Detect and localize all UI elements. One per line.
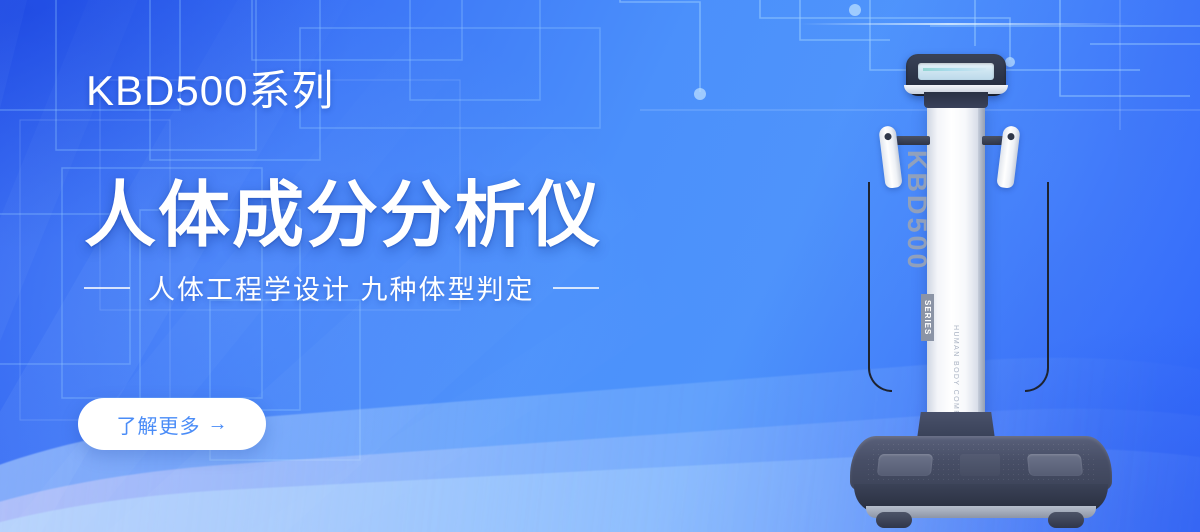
- arrow-right-icon: →: [208, 414, 228, 434]
- device-handle-arm-left: [896, 136, 930, 145]
- learn-more-button-label: 了解更多: [117, 410, 201, 439]
- device-screen: [918, 63, 994, 80]
- device-cable-right: [1025, 182, 1049, 392]
- hero-subtitle-text: 人体工程学设计 九种体型判定: [148, 268, 535, 307]
- device-column-edge: [978, 104, 985, 424]
- device-foot-electrode-right: [1027, 454, 1083, 476]
- device-series-badge: SERIES: [921, 294, 934, 341]
- device-brand-label: KBD500: [901, 150, 932, 300]
- device-foot-electrode-left: [877, 454, 933, 476]
- device-handle-right: [996, 125, 1020, 189]
- page-title: 人体成分分析仪: [84, 180, 602, 252]
- product-series-eyebrow: KBD500系列: [86, 70, 334, 112]
- product-hero-banner: KBD500系列 人体成分分析仪 人体工程学设计 九种体型判定 了解更多 → K…: [0, 0, 1200, 532]
- device-cable-left: [868, 182, 892, 392]
- device-foot-right: [1048, 512, 1084, 528]
- dash-left-icon: [84, 287, 130, 289]
- hero-text-block: KBD500系列 人体成分分析仪 人体工程学设计 九种体型判定 了解更多 →: [0, 0, 700, 532]
- hero-subtitle: 人体工程学设计 九种体型判定: [84, 268, 599, 307]
- learn-more-button[interactable]: 了解更多 →: [78, 398, 266, 450]
- dash-right-icon: [553, 287, 599, 289]
- device-foot-left: [876, 512, 912, 528]
- device-handle-left: [878, 125, 902, 189]
- device-center-pad: [960, 454, 1000, 476]
- product-device-image: KBD500 SERIES HUMAN BODY COMPOSITION ANA…: [820, 40, 1140, 515]
- device-head-base: [924, 92, 988, 108]
